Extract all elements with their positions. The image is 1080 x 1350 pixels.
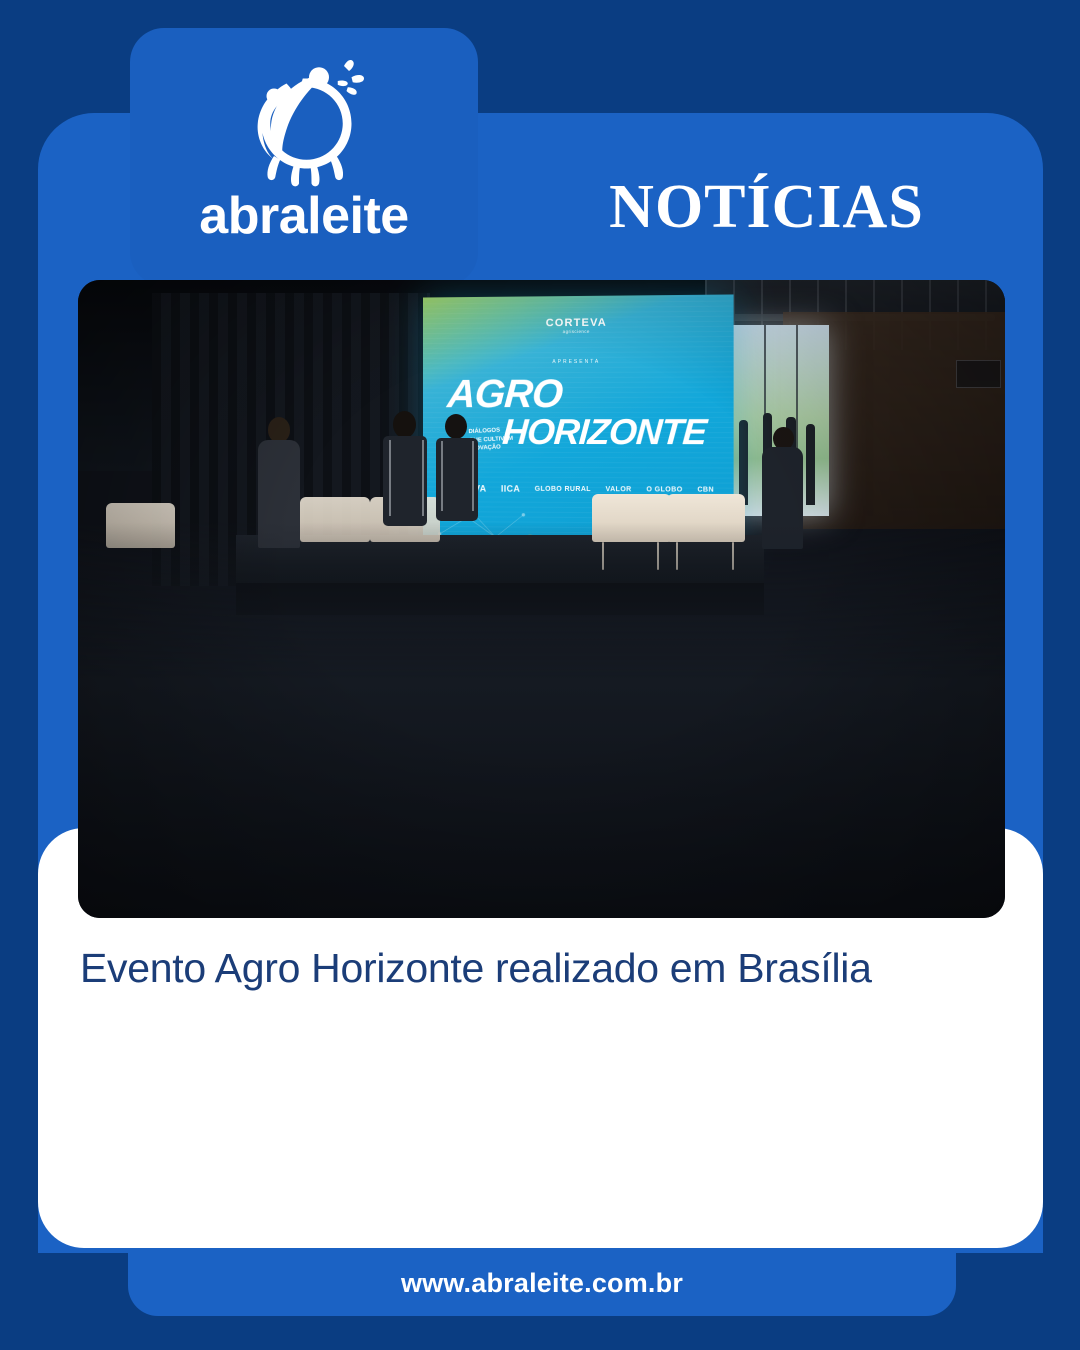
- sponsor-logo: O GLOBO: [646, 486, 682, 493]
- news-post-card: abraleite NOTÍCIAS: [0, 0, 1080, 1350]
- news-photo: CORTEVA agriscience APRESENTA AGRO HORIZ…: [78, 280, 1005, 918]
- abraleite-milk-drop-logo-icon: [229, 46, 379, 196]
- person-head: [393, 411, 416, 438]
- sponsor-logo: CBN: [697, 486, 714, 493]
- person-head: [268, 417, 290, 443]
- brand-wordmark: abraleite: [199, 190, 408, 242]
- footer-bar: www.abraleite.com.br: [128, 1250, 956, 1316]
- section-label-noticias: NOTÍCIAS: [490, 176, 1043, 238]
- brand-logo-card: abraleite: [130, 28, 478, 286]
- website-url[interactable]: www.abraleite.com.br: [401, 1268, 683, 1299]
- screen-title-horizonte: HORIZONTE: [501, 411, 707, 453]
- news-headline: Evento Agro Horizonte realizado em Brasí…: [80, 944, 980, 993]
- wall-panel: [956, 360, 1000, 388]
- screen-corteva-logo: CORTEVA agriscience: [423, 316, 733, 335]
- sponsor-logo: VALOR: [606, 486, 632, 493]
